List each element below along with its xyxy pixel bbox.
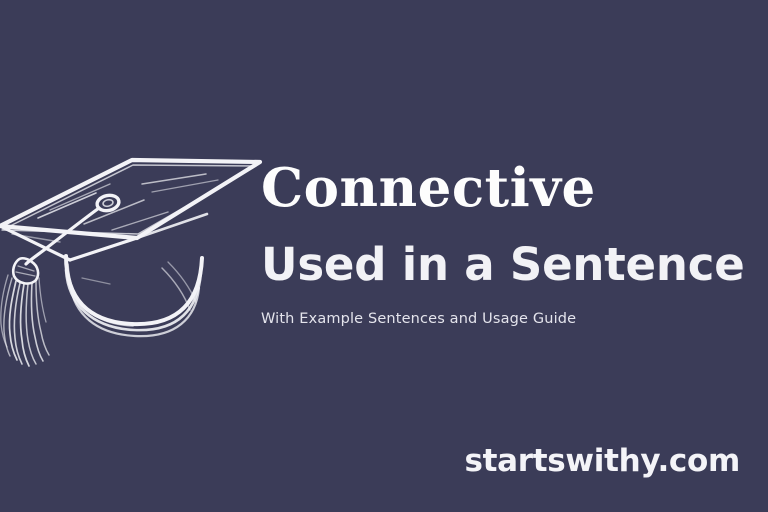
graduation-cap-svg (0, 138, 272, 378)
page-title-phrase: Used in a Sentence (261, 238, 761, 292)
page-title-word: Connective (261, 158, 761, 218)
headline-block: Connective Used in a Sentence With Examp… (261, 158, 761, 329)
word-usage-banner: Connective Used in a Sentence With Examp… (0, 0, 768, 512)
graduation-cap-sketch-icon (0, 138, 272, 378)
brand-watermark: startswithy.com (464, 443, 740, 479)
page-subtitle: With Example Sentences and Usage Guide (261, 309, 761, 329)
